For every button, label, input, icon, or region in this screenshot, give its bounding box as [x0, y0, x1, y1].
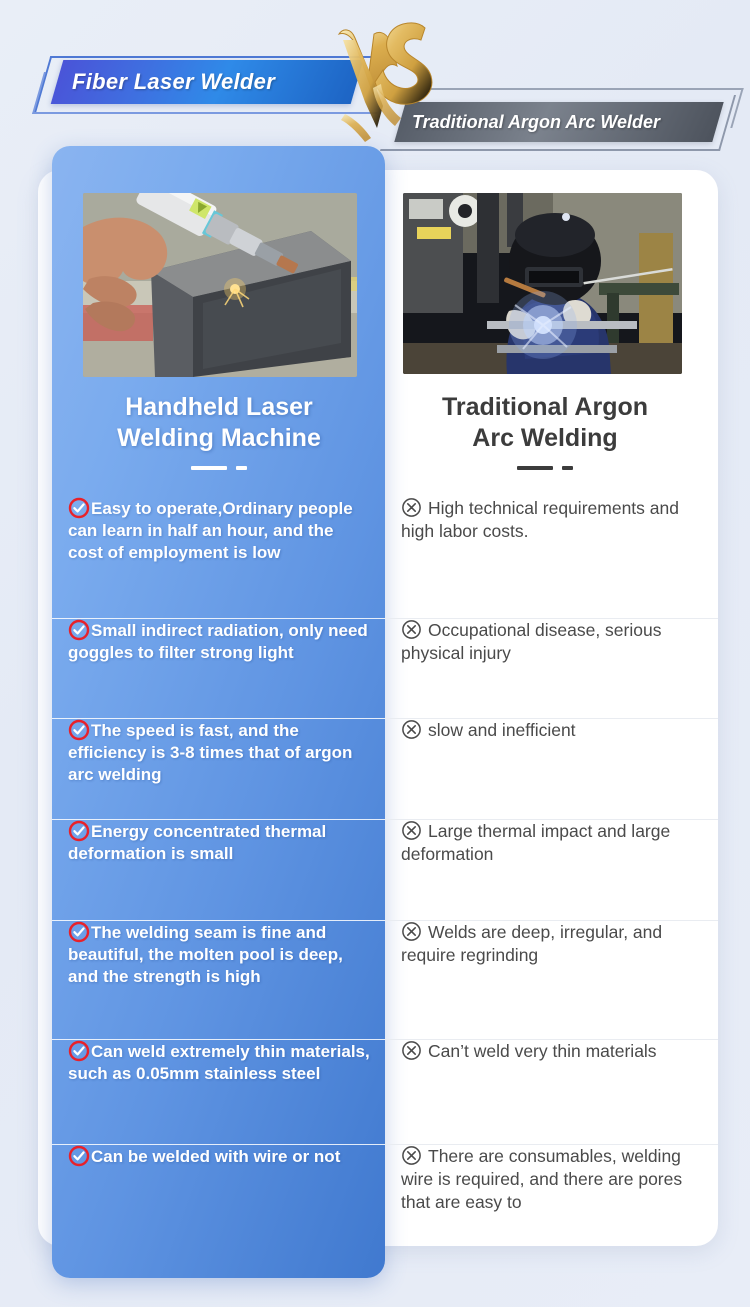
divider-segment-short [562, 466, 573, 470]
left-feature-text: Small indirect radiation, only need gogg… [68, 619, 375, 664]
right-title-divider [400, 466, 690, 470]
left-feature-list: Easy to operate,Ordinary people can lear… [52, 497, 385, 1255]
check-circle-icon [68, 1040, 90, 1062]
feature-row-inner: Easy to operate,Ordinary people can lear… [52, 497, 385, 564]
x-circle-icon [401, 497, 422, 518]
left-feature-row: Easy to operate,Ordinary people can lear… [52, 497, 385, 619]
right-feature-row: Large thermal impact and large deformati… [385, 820, 718, 921]
divider-segment-long [191, 466, 227, 470]
right-column-title: Traditional Argon Arc Welding [400, 392, 690, 453]
right-column-title-line2: Arc Welding [400, 423, 690, 454]
feature-row-inner: Energy concentrated thermal deformation … [52, 820, 385, 865]
left-column-title: Handheld Laser Welding Machine [60, 392, 378, 453]
right-feature-text: slow and inefficient [401, 719, 576, 742]
right-feature-text: Occupational disease, serious physical i… [401, 619, 708, 665]
divider-segment-long [517, 466, 553, 470]
left-feature-row: The speed is fast, and the efficiency is… [52, 719, 385, 820]
check-circle-icon [68, 719, 90, 741]
feature-row-inner: Occupational disease, serious physical i… [385, 619, 718, 665]
right-feature-text: High technical requirements and high lab… [401, 497, 708, 543]
left-title-divider [60, 466, 378, 470]
left-column-title-line1: Handheld Laser [60, 392, 378, 423]
feature-row-inner: slow and inefficient [385, 719, 718, 742]
left-feature-row: Energy concentrated thermal deformation … [52, 820, 385, 921]
right-feature-row: Occupational disease, serious physical i… [385, 619, 718, 719]
right-feature-row: slow and inefficient [385, 719, 718, 820]
right-feature-text: Can’t weld very thin materials [401, 1040, 657, 1063]
feature-row-inner: Can weld extremely thin materials, such … [52, 1040, 385, 1085]
vs-icon [325, 10, 445, 150]
left-feature-text: Can be welded with wire or not [68, 1145, 344, 1168]
x-circle-icon [401, 1145, 422, 1166]
left-column-photo [83, 193, 357, 377]
feature-row-inner: High technical requirements and high lab… [385, 497, 718, 543]
feature-row-inner: The speed is fast, and the efficiency is… [52, 719, 385, 786]
feature-row-inner: Can be welded with wire or not [52, 1145, 385, 1168]
left-feature-row: Can weld extremely thin materials, such … [52, 1040, 385, 1145]
right-feature-row: High technical requirements and high lab… [385, 497, 718, 619]
right-column-photo [403, 193, 682, 374]
left-feature-row: Small indirect radiation, only need gogg… [52, 619, 385, 719]
comparison-content: Handheld Laser Welding Machine Tradition… [0, 0, 750, 1307]
check-circle-icon [68, 820, 90, 842]
left-feature-row: The welding seam is fine and beautiful, … [52, 921, 385, 1040]
check-circle-icon [68, 497, 90, 519]
left-feature-text: Easy to operate,Ordinary people can lear… [68, 497, 375, 564]
check-circle-icon [68, 619, 90, 641]
x-circle-icon [401, 1040, 422, 1061]
check-circle-icon [68, 921, 90, 943]
left-feature-text: The speed is fast, and the efficiency is… [68, 719, 375, 786]
x-circle-icon [401, 719, 422, 740]
left-feature-text: The welding seam is fine and beautiful, … [68, 921, 375, 988]
left-feature-text: Can weld extremely thin materials, such … [68, 1040, 375, 1085]
x-circle-icon [401, 619, 422, 640]
x-circle-icon [401, 921, 422, 942]
feature-row-inner: Large thermal impact and large deformati… [385, 820, 718, 866]
feature-row-inner: Welds are deep, irregular, and require r… [385, 921, 718, 967]
right-feature-row: Welds are deep, irregular, and require r… [385, 921, 718, 1040]
right-feature-row: There are consumables, welding wire is r… [385, 1145, 718, 1255]
x-circle-icon [401, 820, 422, 841]
divider-segment-short [236, 466, 247, 470]
check-circle-icon [68, 1145, 90, 1167]
feature-row-inner: The welding seam is fine and beautiful, … [52, 921, 385, 988]
right-feature-text: There are consumables, welding wire is r… [401, 1145, 708, 1214]
right-feature-text: Welds are deep, irregular, and require r… [401, 921, 708, 967]
left-feature-text: Energy concentrated thermal deformation … [68, 820, 375, 865]
feature-row-inner: Small indirect radiation, only need gogg… [52, 619, 385, 664]
right-feature-text: Large thermal impact and large deformati… [401, 820, 708, 866]
feature-row-inner: Can’t weld very thin materials [385, 1040, 718, 1063]
right-feature-row: Can’t weld very thin materials [385, 1040, 718, 1145]
right-column-title-line1: Traditional Argon [400, 392, 690, 423]
left-column-title-line2: Welding Machine [60, 423, 378, 454]
left-feature-row: Can be welded with wire or not [52, 1145, 385, 1255]
feature-row-inner: There are consumables, welding wire is r… [385, 1145, 718, 1214]
right-feature-list: High technical requirements and high lab… [385, 497, 718, 1255]
